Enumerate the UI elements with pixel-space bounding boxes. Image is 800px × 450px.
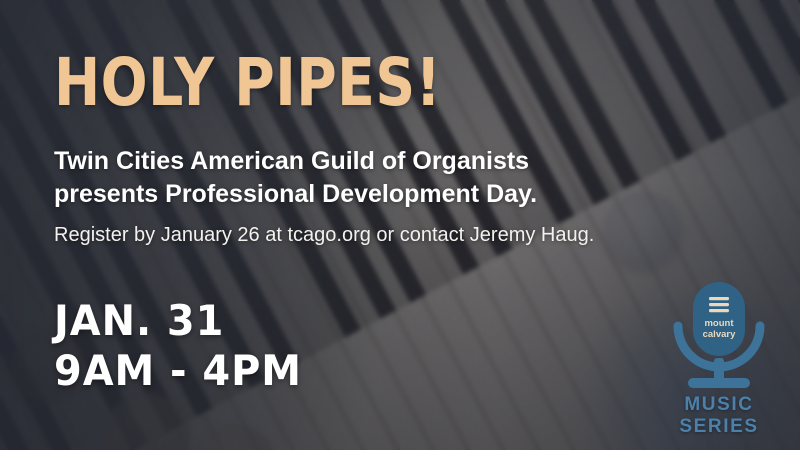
event-date: JAN. 31 [54, 296, 302, 346]
event-datetime: JAN. 31 9AM - 4PM [54, 296, 302, 395]
music-series-line-2: SERIES [656, 416, 782, 438]
subtitle-line-1: Twin Cities American Guild of Organists [54, 147, 529, 175]
music-series-line-1: MUSIC [656, 394, 782, 416]
logo-brand-line-2: calvary [703, 329, 736, 340]
poster-canvas: 5 HOLY PIPES! Twin Cities American Guild… [0, 0, 800, 450]
subtitle: Twin Cities American Guild of Organists … [54, 145, 674, 212]
poster-content: HOLY PIPES! Twin Cities American Guild o… [0, 0, 800, 450]
registration-info: Register by January 26 at tcago.org or c… [54, 222, 594, 248]
mount-calvary-music-series-logo: mount calvary MUSIC SERIES [656, 280, 782, 442]
subtitle-line-2: presents Professional Development Day. [54, 178, 674, 211]
microphone-icon: mount calvary [656, 280, 782, 392]
music-series-label: MUSIC SERIES [656, 394, 782, 438]
logo-brand-line-1: mount [704, 318, 734, 329]
page-title: HOLY PIPES! [54, 50, 441, 116]
event-time: 9AM - 4PM [54, 346, 302, 396]
